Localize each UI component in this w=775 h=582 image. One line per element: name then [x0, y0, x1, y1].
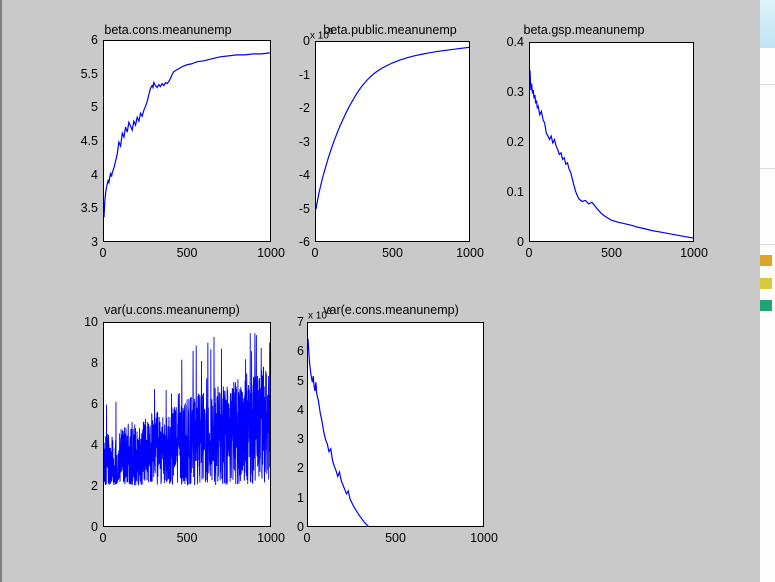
subplot-beta-cons-meanunemp[interactable]: beta.cons.meanunemp 6 5.5 5 4.5 4 3.5 3 … — [62, 20, 312, 270]
xtick-label: 1000 — [470, 531, 498, 545]
ytick-label: 0 — [272, 520, 304, 534]
ytick-label: -5 — [278, 202, 310, 216]
ytick-label: 0.2 — [492, 135, 524, 149]
xtick-label: 1000 — [680, 246, 708, 260]
ytick-label: 5 — [272, 374, 304, 388]
plot-axes[interactable] — [103, 322, 271, 527]
exponent-power: 3 — [327, 307, 331, 316]
subplot-var-e-cons-meanunemp[interactable]: var(e.cons.meanunemp) x 103 7 6 5 4 3 2 … — [280, 300, 530, 550]
ytick-label: 3 — [62, 235, 98, 249]
ytick-label: 0 — [492, 235, 524, 249]
ytick-label: 4 — [272, 403, 304, 417]
ytick-label: -6 — [278, 235, 310, 249]
xtick-label: 0 — [100, 246, 107, 260]
figure-window[interactable]: beta.cons.meanunemp 6 5.5 5 4.5 4 3.5 3 … — [0, 0, 760, 582]
plot-axes[interactable] — [103, 40, 271, 242]
xtick-label: 1000 — [456, 246, 484, 260]
ytick-label: 1 — [272, 491, 304, 505]
subplot-var-u-cons-meanunemp[interactable]: var(u.cons.meanunemp) 10 8 6 4 2 0 0 500… — [62, 300, 312, 550]
plot-curve — [104, 41, 270, 241]
ytick-label: 10 — [62, 315, 98, 329]
xtick-label: 0 — [526, 246, 533, 260]
ytick-label: 8 — [62, 356, 98, 370]
ytick-label: 3.5 — [62, 201, 98, 215]
plot-curve — [316, 42, 469, 241]
background-window-sliver[interactable] — [758, 0, 775, 582]
ytick-label: -3 — [278, 135, 310, 149]
background-icon-1[interactable] — [760, 255, 772, 266]
xtick-label: 0 — [100, 531, 107, 545]
plot-curve — [308, 323, 483, 526]
ytick-label: 4.5 — [62, 134, 98, 148]
ytick-label: 6 — [62, 397, 98, 411]
plot-axes[interactable] — [315, 41, 470, 242]
exponent-multiplier: x 10 — [308, 311, 327, 322]
ytick-label: -1 — [278, 68, 310, 82]
plot-axes[interactable] — [307, 322, 484, 527]
xtick-label: 0 — [304, 531, 311, 545]
ytick-label: 7 — [272, 315, 304, 329]
ytick-label: 5 — [62, 100, 98, 114]
exponent-multiplier: x 10 — [310, 31, 329, 42]
background-window-body — [759, 48, 775, 582]
plot-noise-trace — [104, 323, 270, 526]
ytick-label: 2 — [272, 461, 304, 475]
figure-canvas[interactable]: beta.cons.meanunemp 6 5.5 5 4.5 4 3.5 3 … — [2, 0, 760, 582]
ytick-label: 0.4 — [492, 35, 524, 49]
ytick-label: 4 — [62, 438, 98, 452]
plot-curve — [530, 43, 693, 241]
ytick-label: 0.3 — [492, 85, 524, 99]
ytick-label: -4 — [278, 168, 310, 182]
xtick-label: 500 — [382, 246, 403, 260]
xtick-label: 500 — [385, 531, 406, 545]
ytick-label: 5.5 — [62, 67, 98, 81]
xtick-label: 500 — [177, 531, 198, 545]
ytick-label: 0 — [278, 34, 310, 48]
ytick-label: 6 — [272, 344, 304, 358]
ytick-label: 0 — [62, 520, 98, 534]
axis-exponent-label: x 103 — [308, 306, 331, 323]
background-icon-2[interactable] — [760, 278, 772, 289]
xtick-label: 500 — [177, 246, 198, 260]
ytick-label: 6 — [62, 33, 98, 47]
ytick-label: 4 — [62, 168, 98, 182]
background-window-titlebar — [759, 0, 775, 48]
xtick-label: 500 — [601, 246, 622, 260]
ytick-label: 3 — [272, 432, 304, 446]
ytick-label: 0.1 — [492, 185, 524, 199]
subplot-beta-gsp-meanunemp[interactable]: beta.gsp.meanunemp 0.4 0.3 0.2 0.1 0 0 5… — [494, 20, 744, 270]
exponent-power: 5 — [329, 27, 333, 36]
xtick-label: 0 — [312, 246, 319, 260]
plot-axes[interactable] — [529, 42, 694, 242]
ytick-label: -2 — [278, 101, 310, 115]
ytick-label: 2 — [62, 479, 98, 493]
background-icon-3[interactable] — [760, 300, 772, 311]
